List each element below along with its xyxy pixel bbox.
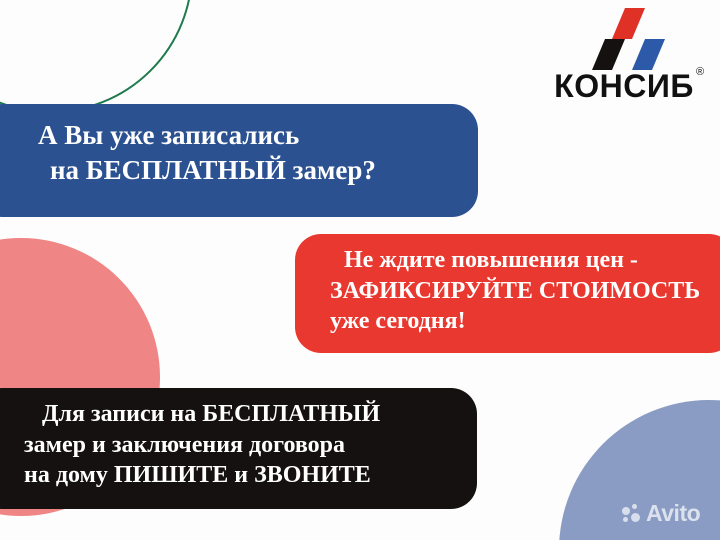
avito-dots-icon — [622, 504, 642, 524]
banner-red-line-1: Не ждите повышения цен - — [330, 245, 720, 276]
banner-blue-free-measurement: А Вы уже записались на БЕСПЛАТНЫЙ замер? — [0, 104, 478, 217]
banner-red-line-3: уже сегодня! — [330, 306, 720, 337]
banner-blue-line-1: А Вы уже записались — [38, 118, 478, 153]
banner-black-line-3: на дому ПИШИТЕ и ЗВОНИТЕ — [24, 460, 477, 491]
poster-canvas: КОНСИБ ® А Вы уже записались на БЕСПЛАТН… — [0, 0, 720, 540]
banner-black-line-1: Для записи на БЕСПЛАТНЫЙ — [24, 399, 477, 430]
banner-black-contact-call-to-action: Для записи на БЕСПЛАТНЫЙ замер и заключе… — [0, 388, 477, 509]
banner-blue-line-2: на БЕСПЛАТНЫЙ замер? — [38, 153, 478, 188]
brand-logo: КОНСИБ ® — [536, 8, 712, 108]
brand-wordmark: КОНСИБ — [536, 70, 712, 102]
konsib-logo-icon — [592, 8, 678, 70]
avito-wordmark: Avito — [646, 500, 700, 527]
registered-trademark-icon: ® — [696, 66, 704, 78]
green-ring-decoration — [0, 0, 193, 113]
banner-red-line-2: ЗАФИКСИРУЙТЕ СТОИМОСТЬ — [330, 276, 720, 307]
banner-black-line-2: замер и заключения договора — [24, 430, 477, 461]
banner-red-price-lock: Не ждите повышения цен - ЗАФИКСИРУЙТЕ СТ… — [295, 234, 720, 353]
avito-watermark: Avito — [622, 500, 700, 527]
